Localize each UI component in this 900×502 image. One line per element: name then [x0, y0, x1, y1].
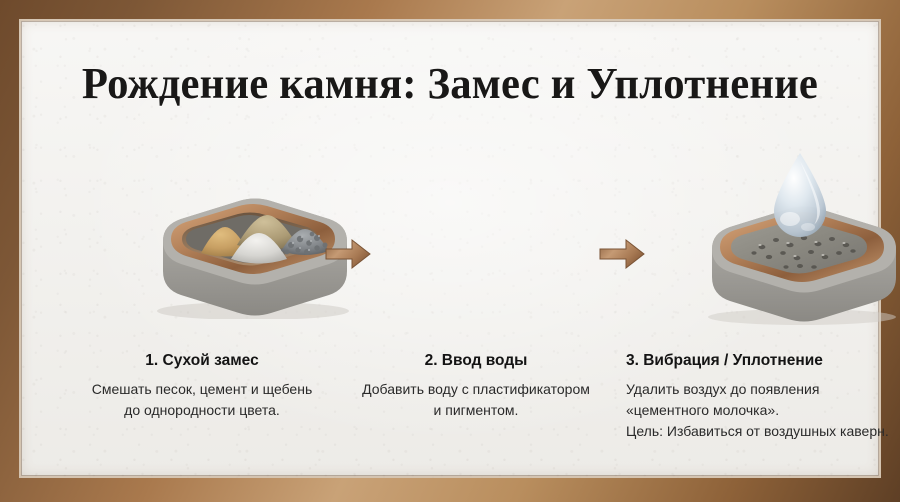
step-1-illustration [86, 129, 316, 329]
steps-illustrations [38, 129, 862, 369]
infographic-frame: Рождение камня: Замес и Уплотнение [0, 0, 900, 502]
step-2-body: Добавить воду с пластификатором и пигмен… [360, 379, 592, 421]
caption-step-2: 2. Ввод воды Добавить воду с пластификат… [360, 352, 592, 421]
step-3-illustration [634, 129, 884, 329]
arrow-step2-to-step3-icon [598, 237, 646, 271]
step-1-body: Смешать песок, цемент и щебень до одноро… [86, 379, 318, 421]
step-2-heading: 2. Ввод воды [360, 352, 592, 370]
arrow-step1-to-step2-icon [324, 237, 372, 271]
step-2-illustration [360, 129, 590, 329]
page-title: Рождение камня: Замес и Уплотнение [32, 61, 868, 107]
caption-step-1: 1. Сухой замес Смешать песок, цемент и щ… [86, 352, 318, 421]
step-1-heading: 1. Сухой замес [86, 352, 318, 370]
caption-step-3: 3. Вибрация / Уплотнение Удалить воздух … [626, 352, 894, 442]
step-3-body: Удалить воздух до появления «цементного … [626, 379, 894, 442]
step-3-heading: 3. Вибрация / Уплотнение [626, 352, 894, 370]
